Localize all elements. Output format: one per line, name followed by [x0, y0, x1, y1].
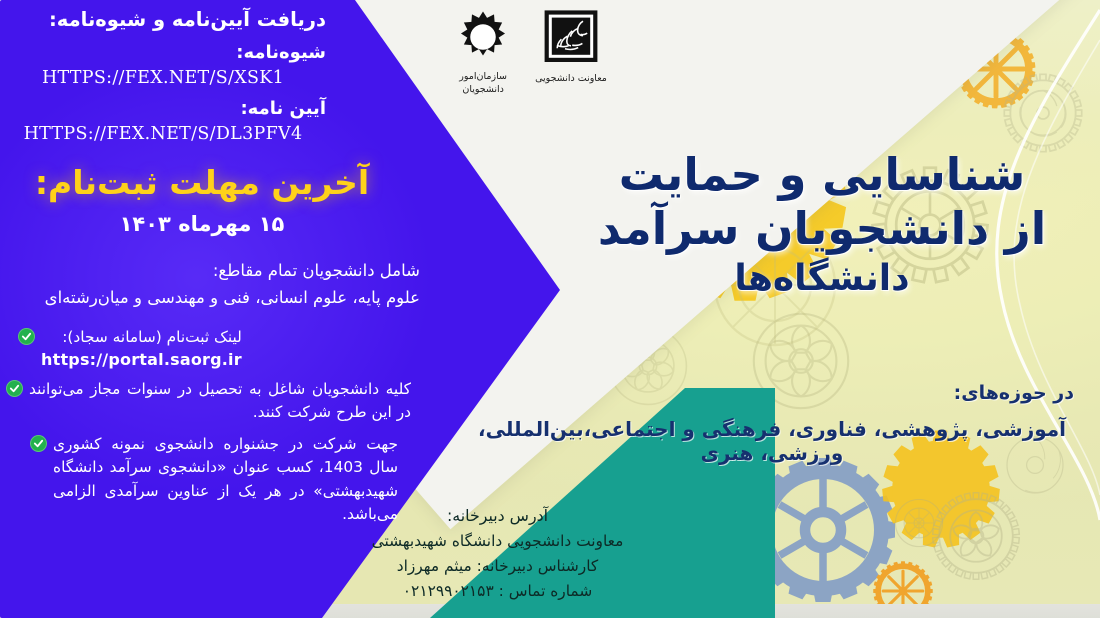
headline-line-3: دانشگاه‌ها [562, 259, 1082, 299]
logo-row: سازمان‌امور دانشجویان [420, 8, 640, 116]
shahid-beheshti-university-logo [540, 8, 602, 68]
fields-section: در حوزه‌های: آموزشی، پژوهشی، فناوری، فره… [462, 382, 1082, 465]
student-affairs-organization-logo [453, 8, 513, 66]
check-icon [30, 435, 47, 452]
decorative-swoosh [940, 0, 1100, 618]
headline-line-1: شناسایی و حمایت [562, 150, 1082, 200]
poster-headline: شناسایی و حمایت از دانشجویان سرآمد دانشگ… [562, 150, 1082, 299]
deadline-date: ۱۵ مهرماه ۱۴۰۳ [0, 212, 404, 236]
deadline-title: آخرین مهلت ثبت‌نام: [0, 163, 404, 202]
poster-canvas: سازمان‌امور دانشجویان [0, 0, 1100, 618]
organization-logo-block: سازمان‌امور دانشجویان [453, 8, 513, 97]
method-label: شیوه‌نامه: [0, 42, 326, 63]
secretariat-block: آدرس دبیرخانه: معاونت دانشجویی دانشگاه ش… [300, 503, 695, 604]
checklist-item-1-text: کلیه دانشجویان شاغل به تحصیل در سنوات مج… [29, 378, 411, 424]
headline-line-2: از دانشجویان سرآمد [562, 204, 1082, 254]
checklist-item-0-text: لینک ثبت‌نام (سامانه سجاد): [41, 326, 242, 349]
organization-logo-caption: سازمان‌امور دانشجویان [459, 71, 507, 97]
regulation-url[interactable]: HTTPS://FEX.NET/S/DL3PFV4 [0, 124, 326, 144]
university-logo-block: معاونت دانشجویی [535, 8, 607, 86]
list-item: کلیه دانشجویان شاغل به تحصیل در سنوات مج… [0, 378, 432, 424]
secretariat-office: معاونت دانشجویی دانشگاه شهیدبهشتی [300, 529, 695, 554]
method-url[interactable]: HTTPS://FEX.NET/S/XSK1 [0, 68, 326, 88]
fields-label: در حوزه‌های: [462, 382, 1082, 404]
registration-link[interactable]: https://portal.saorg.ir [41, 350, 242, 369]
secretariat-phone: شماره تماس : ۰۲۱۲۹۹۰۲۱۵۳ [300, 579, 695, 604]
check-icon [18, 328, 35, 345]
fields-list: آموزشی، پژوهشی، فناوری، فرهنگی و اجتماعی… [462, 417, 1082, 465]
scope-section: شامل دانشجویان تمام مقاطع: علوم پایه، عل… [0, 258, 420, 311]
check-icon [6, 380, 23, 397]
scope-line-1: شامل دانشجویان تمام مقاطع: [0, 258, 420, 285]
list-item: لینک ثبت‌نام (سامانه سجاد): https://port… [0, 326, 432, 369]
university-logo-caption: معاونت دانشجویی [535, 73, 607, 86]
secretariat-expert: کارشناس دبیرخانه: میثم مهرزاد [300, 554, 695, 579]
regulation-label: آیین نامه: [0, 98, 326, 119]
downloads-heading: دریافت آیین‌نامه و شیوه‌نامه: [0, 8, 326, 31]
scope-line-2: علوم پایه، علوم انسانی، فنی و مهندسی و م… [0, 285, 420, 312]
secretariat-title: آدرس دبیرخانه: [300, 503, 695, 529]
